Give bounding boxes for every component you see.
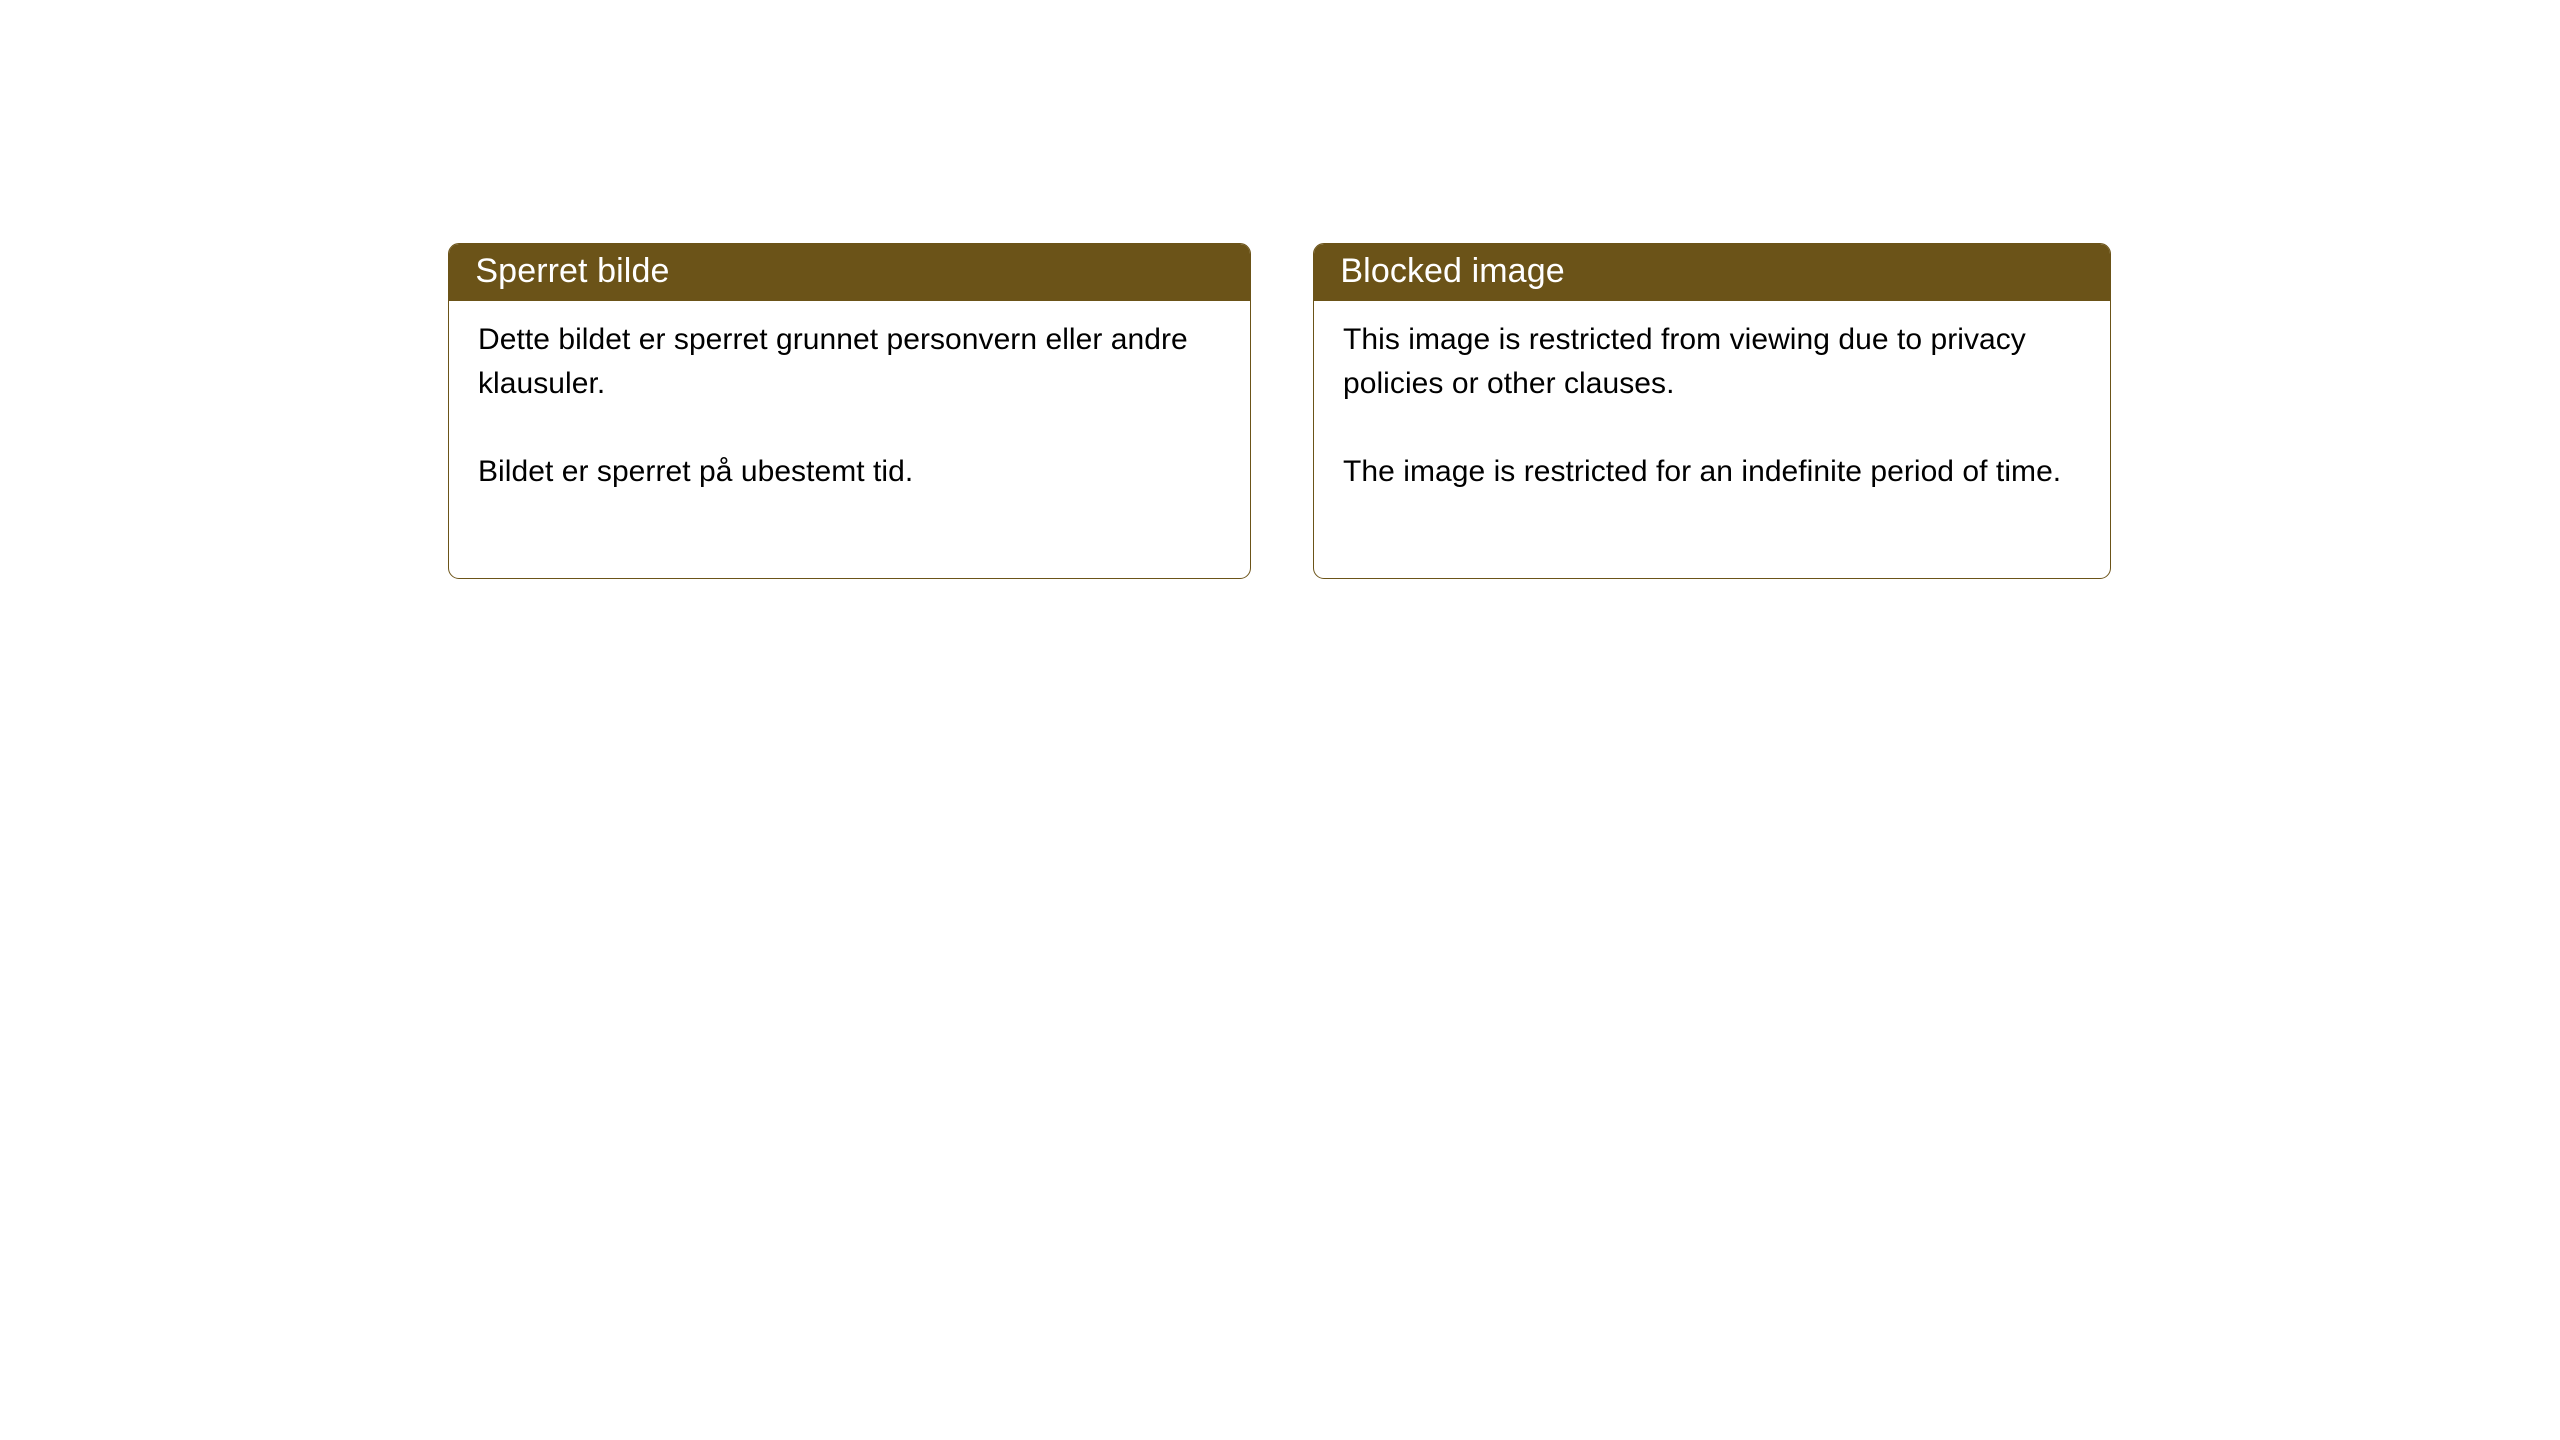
notice-paragraph-reason-english: This image is restricted from viewing du… — [1343, 318, 2084, 406]
notice-body-norwegian: Dette bildet er sperret grunnet personve… — [449, 301, 1250, 494]
notice-paragraph-duration-norwegian: Bildet er sperret på ubestemt tid. — [478, 450, 1224, 494]
notice-title-norwegian: Sperret bilde — [475, 251, 669, 291]
blocked-image-notice-card-english: Blocked image This image is restricted f… — [1313, 243, 2111, 579]
notice-header-norwegian: Sperret bilde — [448, 243, 1251, 301]
page-canvas: Sperret bilde Dette bildet er sperret gr… — [0, 0, 2560, 1440]
blocked-image-notice-card-norwegian: Sperret bilde Dette bildet er sperret gr… — [448, 243, 1251, 579]
notice-body-english: This image is restricted from viewing du… — [1314, 301, 2110, 494]
notice-header-english: Blocked image — [1313, 243, 2111, 301]
notice-paragraph-duration-english: The image is restricted for an indefinit… — [1343, 450, 2084, 494]
notice-title-english: Blocked image — [1340, 251, 1564, 291]
notice-paragraph-reason-norwegian: Dette bildet er sperret grunnet personve… — [478, 318, 1224, 406]
